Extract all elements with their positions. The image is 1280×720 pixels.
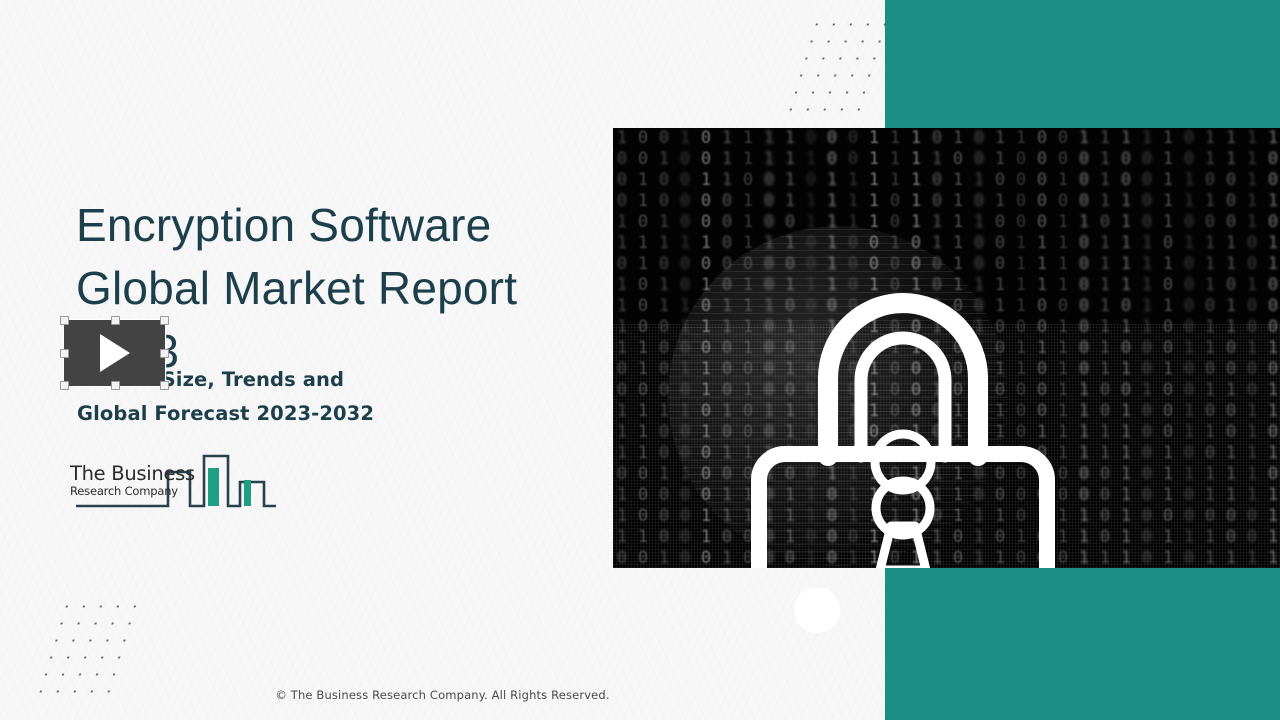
subtitle-line-2: Global Forecast 2023-2032 bbox=[77, 397, 557, 431]
binary-rain-column: 0 1 0 0 0 1 1 1 1 0 1 1 1 1 1 1 1 0 0 1 … bbox=[1098, 128, 1114, 568]
logo-line-1: The Business bbox=[70, 463, 200, 484]
video-placeholder[interactable] bbox=[64, 320, 165, 386]
binary-rain-column: 1 1 0 0 1 1 1 0 1 1 1 0 1 1 0 0 0 1 1 0 … bbox=[1182, 128, 1198, 568]
binary-rain-column: 1 1 0 0 0 0 0 0 1 0 0 1 1 1 0 1 0 1 1 1 … bbox=[1203, 128, 1219, 568]
resize-handle-middle-right[interactable] bbox=[160, 349, 169, 358]
binary-rain-column: 1 1 1 1 1 0 1 0 0 1 1 0 0 0 1 1 0 1 1 1 … bbox=[615, 128, 631, 568]
resize-handle-top-left[interactable] bbox=[60, 316, 69, 325]
binary-rain-column: 0 1 1 1 0 0 1 0 1 0 1 1 1 1 1 0 0 0 1 0 … bbox=[1077, 128, 1093, 568]
resize-handle-bottom-center[interactable] bbox=[111, 381, 120, 390]
binary-rain-column: 1 0 1 1 1 1 1 0 1 0 1 0 0 1 0 0 0 1 1 1 … bbox=[1161, 128, 1177, 568]
binary-rain-column: 0 0 1 1 0 1 1 0 0 0 1 1 0 1 1 1 0 0 0 1 … bbox=[636, 128, 652, 568]
binary-rain-column: 0 0 0 0 0 1 0 1 0 1 0 0 1 1 1 0 1 1 0 0 … bbox=[1140, 128, 1156, 568]
binary-rain-column: 0 1 1 0 0 0 1 1 0 1 1 0 1 1 0 1 0 0 1 0 … bbox=[699, 128, 715, 568]
binary-rain-column: 1 1 0 0 1 1 1 1 1 0 0 0 0 1 0 0 1 1 0 1 … bbox=[678, 128, 694, 568]
copyright-footer: © The Business Research Company. All Rig… bbox=[0, 688, 885, 702]
resize-handle-bottom-right[interactable] bbox=[160, 381, 169, 390]
resize-handle-top-right[interactable] bbox=[160, 316, 169, 325]
binary-rain-column: 0 0 0 0 0 1 1 1 0 1 0 0 1 1 0 1 1 0 0 0 … bbox=[657, 128, 673, 568]
binary-rain-column: 0 1 0 1 0 1 1 1 1 1 1 0 0 1 0 0 1 0 0 1 … bbox=[1245, 128, 1261, 568]
slide-canvas: 1 1 1 1 1 0 1 0 0 1 1 0 0 0 1 1 0 1 1 1 … bbox=[0, 0, 1280, 720]
logo-line-2: Research Company bbox=[70, 484, 200, 498]
dot-grid-pattern-bottom-left bbox=[29, 598, 153, 702]
binary-rain-column: 0 1 0 0 1 0 0 1 0 1 1 0 0 0 1 0 1 1 0 1 … bbox=[1266, 128, 1280, 568]
padlock-icon bbox=[733, 258, 1073, 568]
logo-wordmark: The Business Research Company bbox=[70, 463, 200, 498]
binary-rain-column: 0 0 0 0 1 1 0 1 0 0 1 0 1 0 0 1 1 1 1 1 … bbox=[1119, 128, 1135, 568]
resize-handle-bottom-left[interactable] bbox=[60, 381, 69, 390]
company-logo: The Business Research Company bbox=[68, 452, 280, 512]
resize-handle-middle-left[interactable] bbox=[60, 349, 69, 358]
play-icon[interactable] bbox=[100, 334, 130, 372]
hero-image-encryption-padlock: 1 1 1 1 1 0 1 0 0 1 1 0 0 0 1 1 0 1 1 1 … bbox=[613, 128, 1280, 568]
circle-accent-shape bbox=[794, 587, 840, 633]
binary-rain-column: 0 1 1 0 0 0 1 1 0 1 1 0 0 1 0 0 1 1 1 0 … bbox=[1224, 128, 1240, 568]
resize-handle-top-center[interactable] bbox=[111, 316, 120, 325]
